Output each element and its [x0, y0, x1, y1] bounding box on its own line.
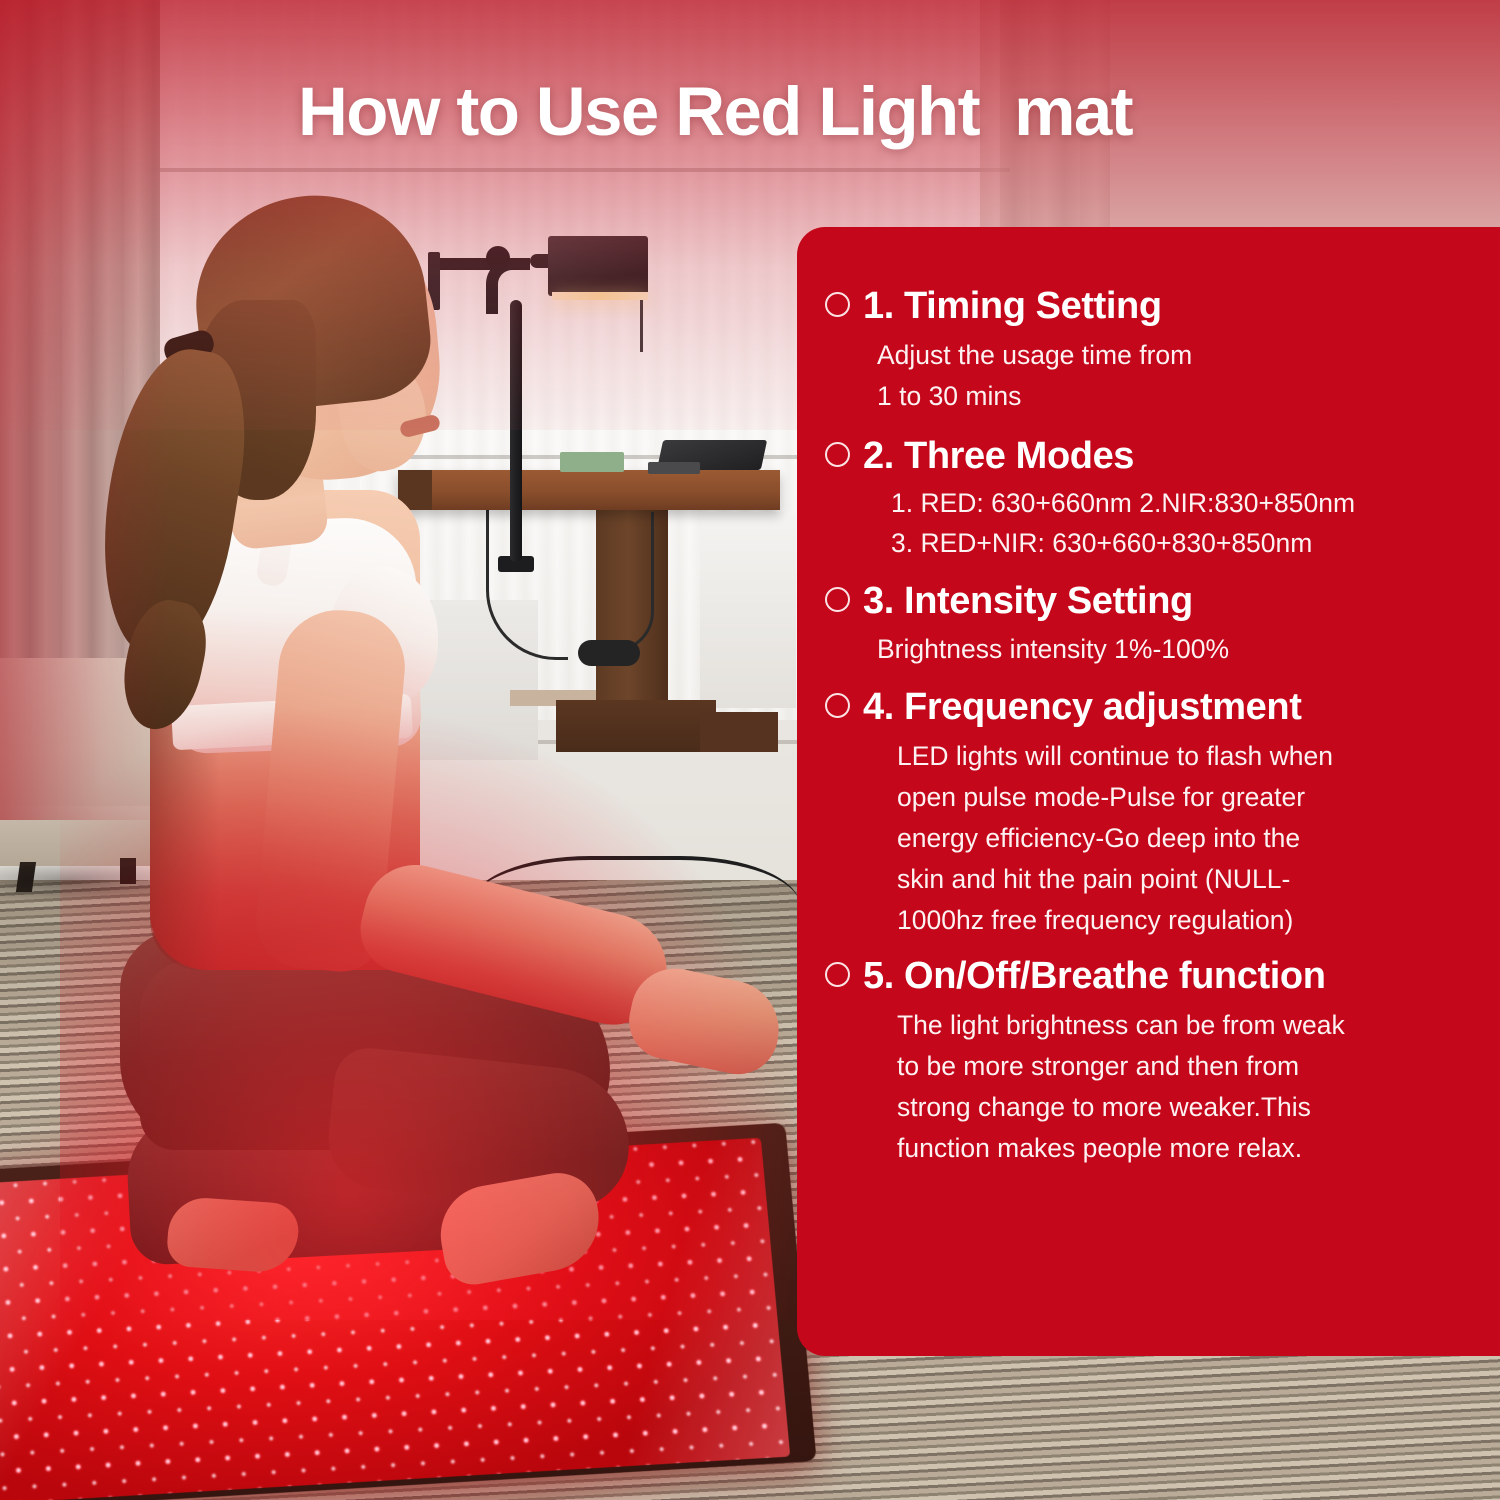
instruction-body-1-line-1: Adjust the usage time from — [877, 335, 1466, 376]
instruction-item-1: 1. Timing Setting Adjust the usage time … — [825, 285, 1466, 417]
page-title: How to Use Red Light mat — [0, 72, 1430, 151]
instruction-body-2-line-1: 1. RED: 630+660nm 2.NIR:830+850nm — [891, 484, 1466, 524]
instruction-body-4-line-1: LED lights will continue to flash when — [897, 736, 1466, 777]
circle-outline-icon — [825, 292, 850, 317]
instruction-body-1: Adjust the usage time from 1 to 30 mins — [877, 335, 1466, 417]
instruction-body-5: The light brightness can be from weak to… — [897, 1005, 1466, 1169]
instruction-item-5: 5. On/Off/Breathe function The light bri… — [825, 955, 1466, 1169]
instruction-heading-5: 5. On/Off/Breathe function — [825, 955, 1466, 998]
instruction-item-2: 2. Three Modes 1. RED: 630+660nm 2.NIR:8… — [825, 435, 1466, 564]
circle-outline-icon — [825, 962, 850, 987]
instruction-item-3: 3. Intensity Setting Brightness intensit… — [825, 580, 1466, 671]
instruction-body-3: Brightness intensity 1%-100% — [877, 629, 1466, 670]
instructions-panel: 1. Timing Setting Adjust the usage time … — [797, 227, 1500, 1356]
instruction-body-1-line-2: 1 to 30 mins — [877, 376, 1466, 417]
hand — [622, 960, 788, 1081]
instruction-body-4-line-5: 1000hz free frequency regulation) — [897, 900, 1466, 941]
instruction-heading-5-label: 5. On/Off/Breathe function — [863, 955, 1326, 998]
instruction-heading-1-label: 1. Timing Setting — [863, 285, 1162, 328]
circle-outline-icon — [825, 693, 850, 718]
instruction-body-5-line-1: The light brightness can be from weak — [897, 1005, 1466, 1046]
instruction-item-4: 4. Frequency adjustment LED lights will … — [825, 686, 1466, 941]
instruction-heading-4: 4. Frequency adjustment — [825, 686, 1466, 729]
instruction-body-3-line-1: Brightness intensity 1%-100% — [877, 629, 1466, 670]
circle-outline-icon — [825, 587, 850, 612]
instruction-heading-1: 1. Timing Setting — [825, 285, 1466, 328]
instruction-body-5-line-4: function makes people more relax. — [897, 1128, 1466, 1169]
instruction-body-2: 1. RED: 630+660nm 2.NIR:830+850nm 3. RED… — [891, 484, 1466, 564]
infographic-root: How to Use Red Light mat 1. Timing Setti… — [0, 0, 1500, 1500]
instruction-body-2-line-2: 3. RED+NIR: 630+660+830+850nm — [891, 524, 1466, 564]
instruction-heading-3: 3. Intensity Setting — [825, 580, 1466, 623]
instruction-heading-2-label: 2. Three Modes — [863, 435, 1134, 478]
instruction-body-5-line-2: to be more stronger and then from — [897, 1046, 1466, 1087]
foot-back — [166, 1196, 301, 1275]
instruction-heading-2: 2. Three Modes — [825, 435, 1466, 478]
instruction-body-4-line-3: energy efficiency-Go deep into the — [897, 818, 1466, 859]
instruction-heading-4-label: 4. Frequency adjustment — [863, 686, 1301, 729]
circle-outline-icon — [825, 442, 850, 467]
instruction-body-5-line-3: strong change to more weaker.This — [897, 1087, 1466, 1128]
instruction-body-4-line-2: open pulse mode-Pulse for greater — [897, 777, 1466, 818]
instruction-body-4: LED lights will continue to flash when o… — [897, 736, 1466, 941]
instruction-body-4-line-4: skin and hit the pain point (NULL- — [897, 859, 1466, 900]
instruction-heading-3-label: 3. Intensity Setting — [863, 580, 1193, 623]
